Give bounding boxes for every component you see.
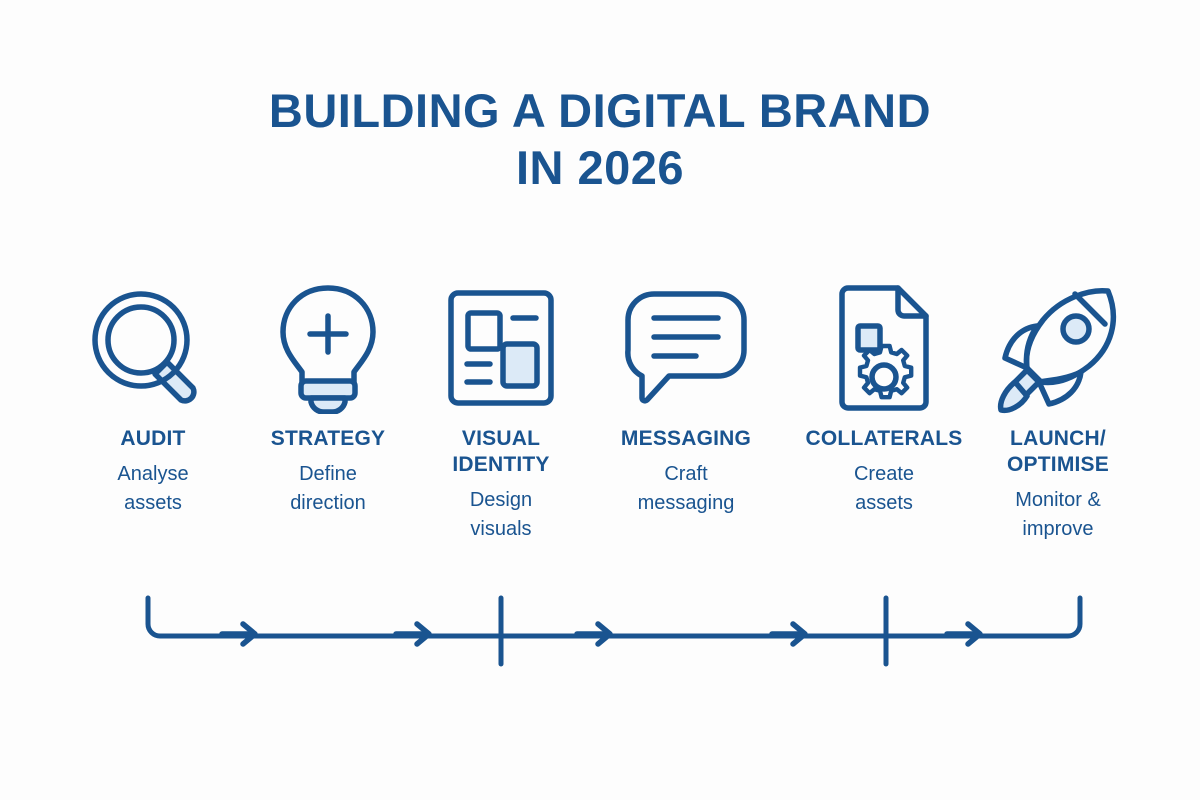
- step-title-audit: AUDIT: [73, 426, 233, 452]
- step-desc-line-2: assets: [73, 489, 233, 518]
- step-messaging[interactable]: MESSAGING Craft messaging: [601, 282, 771, 518]
- step-desc-line-2: messaging: [601, 489, 771, 518]
- step-desc-line-1: Craft: [601, 460, 771, 489]
- step-title-line-2: OPTIMISE: [972, 452, 1144, 478]
- lightbulb-plus-icon: [248, 282, 408, 414]
- step-desc-line-1: Analyse: [73, 460, 233, 489]
- step-title-visual-identity: VISUAL IDENTITY: [421, 426, 581, 478]
- step-desc-line-2: assets: [800, 489, 968, 518]
- magnifying-glass-icon: [73, 282, 233, 414]
- process-steps: AUDIT Analyse assets: [0, 282, 1200, 592]
- step-launch-optimise[interactable]: LAUNCH/ OPTIMISE Monitor & improve: [972, 282, 1144, 544]
- document-gear-icon: [800, 282, 968, 414]
- layout-blocks-icon: [421, 282, 581, 414]
- step-title-strategy: STRATEGY: [248, 426, 408, 452]
- rocket-icon: [972, 282, 1144, 414]
- speech-bubble-icon: [601, 282, 771, 414]
- step-desc-line-1: Create: [800, 460, 968, 489]
- step-strategy[interactable]: STRATEGY Define direction: [248, 282, 408, 518]
- step-desc-line-2: direction: [248, 489, 408, 518]
- step-desc-line-1: Define: [248, 460, 408, 489]
- step-title-collaterals: COLLATERALS: [800, 426, 968, 452]
- step-title-messaging: MESSAGING: [601, 426, 771, 452]
- step-desc-collaterals: Create assets: [800, 460, 968, 518]
- step-title-line-1: VISUAL: [421, 426, 581, 452]
- step-title-launch-optimise: LAUNCH/ OPTIMISE: [972, 426, 1144, 478]
- step-collaterals[interactable]: COLLATERALS Create assets: [800, 282, 968, 518]
- step-desc-line-1: Monitor &: [972, 486, 1144, 515]
- step-desc-visual-identity: Design visuals: [421, 486, 581, 544]
- page-title: BUILDING A DIGITAL BRAND IN 2026: [0, 82, 1200, 196]
- step-visual-identity[interactable]: VISUAL IDENTITY Design visuals: [421, 282, 581, 544]
- title-line-2: IN 2026: [0, 139, 1200, 196]
- step-desc-messaging: Craft messaging: [601, 460, 771, 518]
- step-desc-line-1: Design: [421, 486, 581, 515]
- step-title-line-1: LAUNCH/: [972, 426, 1144, 452]
- step-desc-launch-optimise: Monitor & improve: [972, 486, 1144, 544]
- title-line-1: BUILDING A DIGITAL BRAND: [0, 82, 1200, 139]
- step-desc-strategy: Define direction: [248, 460, 408, 518]
- timeline-bracket: [0, 586, 1200, 686]
- step-desc-line-2: visuals: [421, 515, 581, 544]
- step-desc-line-2: improve: [972, 515, 1144, 544]
- step-audit[interactable]: AUDIT Analyse assets: [73, 282, 233, 518]
- infographic-canvas: BUILDING A DIGITAL BRAND IN 2026 AUDIT A…: [0, 0, 1200, 800]
- step-title-line-2: IDENTITY: [421, 452, 581, 478]
- step-desc-audit: Analyse assets: [73, 460, 233, 518]
